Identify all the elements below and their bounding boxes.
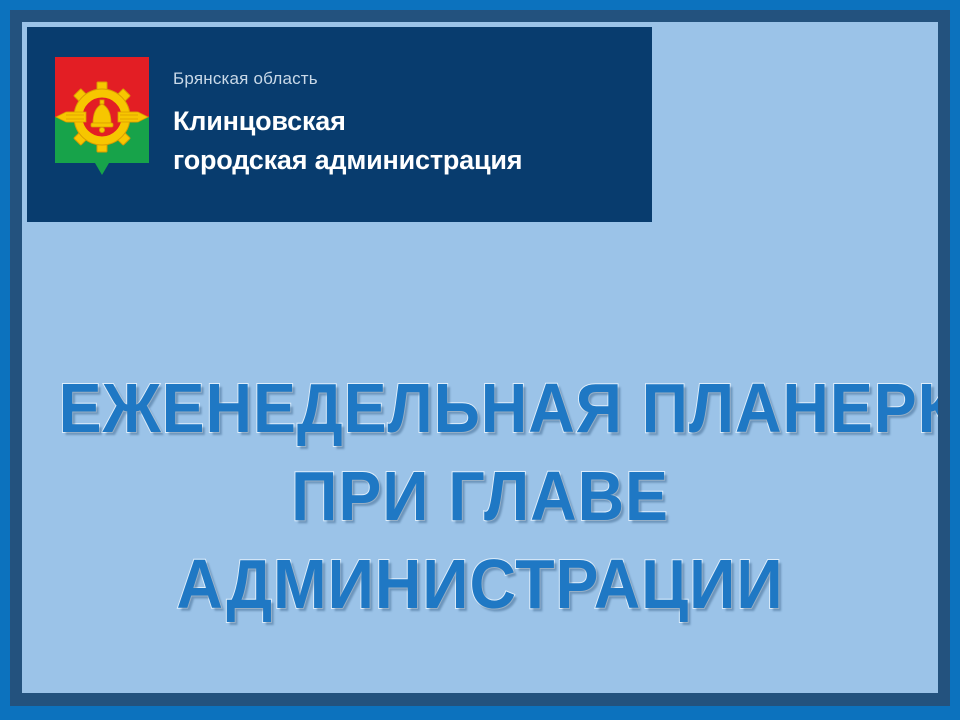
organization-name-line-2: городская администрация [173,141,522,180]
title-line-3: АДМИНИСТРАЦИИ [59,540,902,628]
coat-of-arms-icon [53,55,151,195]
slide-title: ЕЖЕНЕДЕЛЬНАЯ ПЛАНЕРКА ПРИ ГЛАВЕ АДМИНИСТ… [22,364,938,628]
slide-canvas: Брянская область Клинцовская городская а… [22,22,938,693]
slide-root: Брянская область Клинцовская городская а… [0,0,960,720]
header-text-group: Брянская область Клинцовская городская а… [173,69,522,180]
region-label: Брянская область [173,69,522,89]
title-line-1: ЕЖЕНЕДЕЛЬНАЯ ПЛАНЕРКА [59,364,902,452]
header-band: Брянская область Клинцовская городская а… [27,27,652,222]
title-line-2: ПРИ ГЛАВЕ [59,452,902,540]
organization-name-line-1: Клинцовская [173,102,522,141]
